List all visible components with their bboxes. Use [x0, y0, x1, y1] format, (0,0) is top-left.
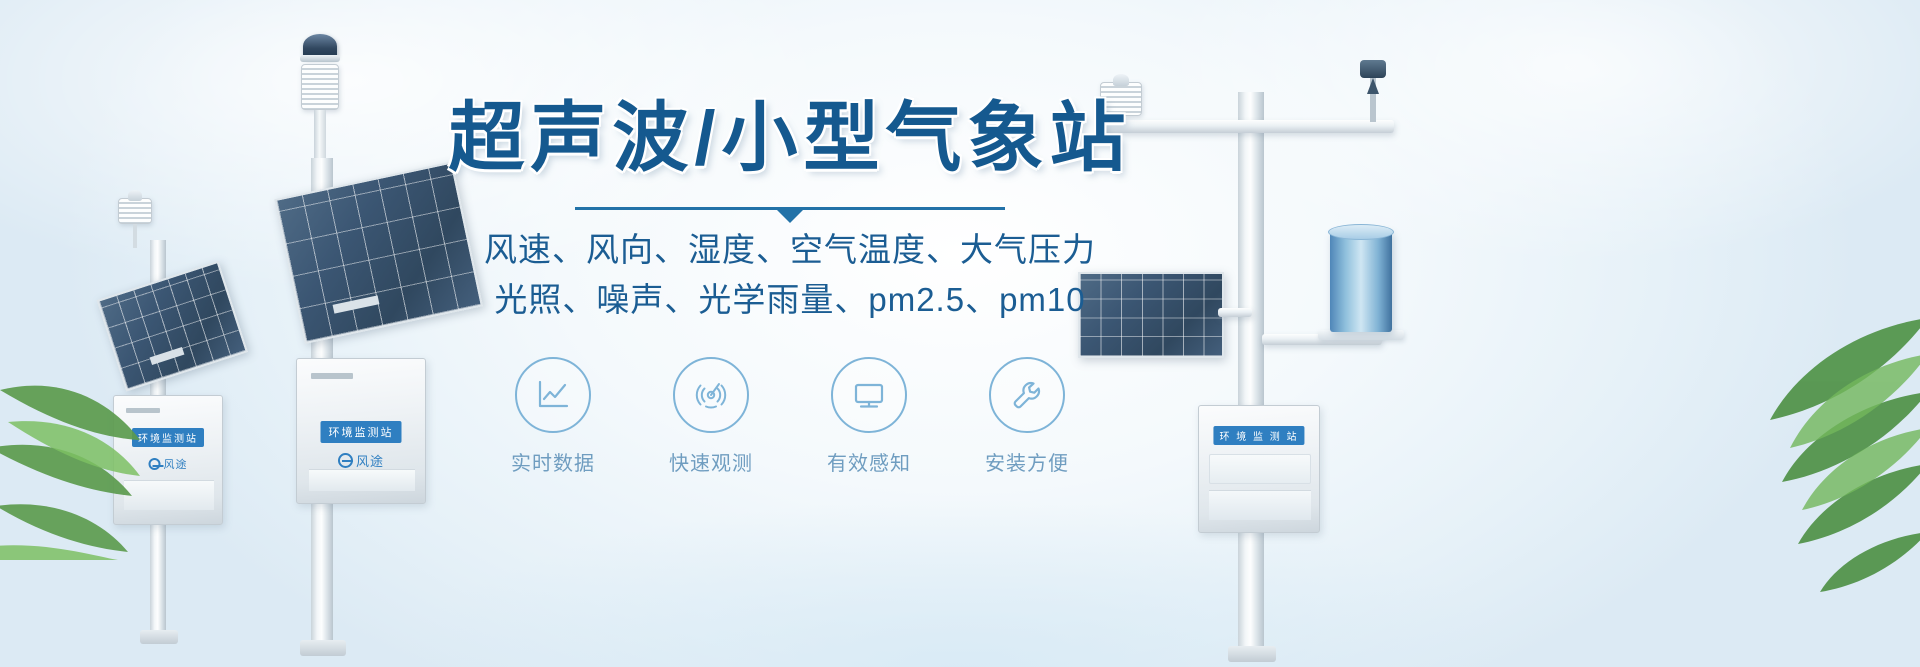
pole-base	[300, 640, 346, 656]
cabinet-label: 环 境 监 测 站	[1213, 426, 1304, 445]
subtitle-line-2: 光照、噪声、光学雨量、pm2.5、pm10	[430, 275, 1150, 325]
subtitle-line-1: 风速、风向、湿度、空气温度、大气压力	[430, 225, 1150, 275]
feature-label: 实时数据	[495, 447, 611, 476]
feature-item-fast-observation[interactable]: 快速观测	[653, 357, 769, 476]
radiation-shield-icon	[118, 198, 152, 224]
brand-name: 风途	[356, 451, 384, 470]
cabinet-enclosure: 环境监测站 风途	[296, 358, 426, 504]
divider-triangle-icon	[777, 210, 803, 223]
feature-item-easy-install[interactable]: 安装方便	[969, 357, 1085, 476]
feature-label: 安装方便	[969, 447, 1085, 476]
palm-leaf-icon	[1678, 296, 1920, 596]
cabinet-vent	[311, 373, 353, 379]
feature-list: 实时数据 快速观测	[430, 357, 1150, 476]
sensor-mast	[133, 224, 137, 248]
radar-signal-icon	[673, 357, 749, 433]
pole-base	[1228, 646, 1276, 662]
page-title: 超声波/小型气象站	[430, 96, 1150, 181]
feature-label: 有效感知	[811, 447, 927, 476]
product-banner: 环境监测站 风途 环境监测站 风途	[0, 0, 1920, 667]
wrench-icon	[989, 357, 1065, 433]
brand-mark-icon	[338, 453, 353, 468]
rain-gauge-icon	[1330, 230, 1392, 332]
sensor-cap-icon	[128, 190, 142, 201]
palm-leaf-icon	[0, 330, 190, 560]
cabinet-enclosure: 环 境 监 测 站	[1198, 405, 1320, 533]
cabinet-label: 环境监测站	[321, 421, 402, 443]
mounting-pole	[1238, 92, 1264, 652]
pole-base	[140, 630, 178, 644]
feature-label: 快速观测	[653, 447, 769, 476]
wind-vane-icon	[1360, 60, 1386, 78]
vane-fin-icon	[1367, 78, 1379, 94]
cabinet-lower-door	[1209, 490, 1311, 520]
radiation-shield-icon	[301, 64, 339, 110]
feature-item-effective-sensing[interactable]: 有效感知	[811, 357, 927, 476]
feature-item-realtime-data[interactable]: 实时数据	[495, 357, 611, 476]
sensor-collar	[300, 55, 340, 62]
cabinet-lower-door	[309, 469, 415, 491]
sensor-cap-icon	[1113, 74, 1129, 86]
brand-logo: 风途	[338, 451, 384, 470]
monitor-icon	[831, 357, 907, 433]
banner-content: 超声波/小型气象站 风速、风向、湿度、空气温度、大气压力 光照、噪声、光学雨量、…	[430, 96, 1150, 516]
cabinet-window	[1209, 454, 1311, 484]
title-divider	[575, 203, 1005, 219]
panel-bracket	[1218, 308, 1252, 317]
sensor-mast	[314, 110, 326, 160]
rain-gauge-funnel-icon	[1328, 224, 1394, 240]
line-chart-icon	[515, 357, 591, 433]
